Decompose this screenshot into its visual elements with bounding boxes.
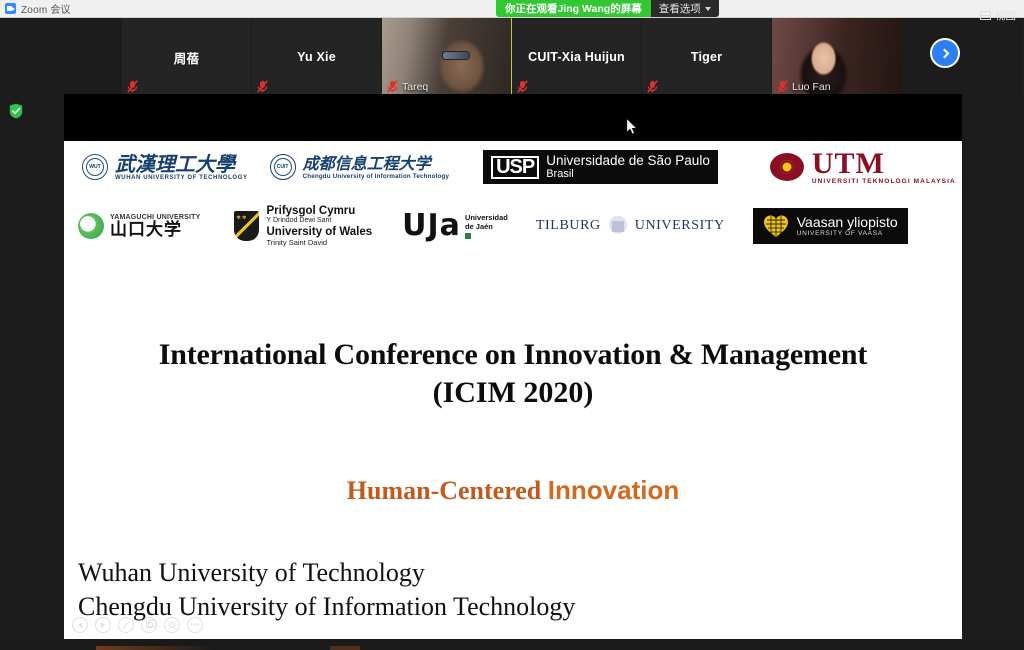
share-banner-message: 你正在观看Jing Wang的屏幕 xyxy=(496,0,651,17)
microphone-muted-icon xyxy=(387,80,398,93)
previous-slide-icon xyxy=(78,622,82,628)
participant-tile-zhou-bei[interactable]: 周蓓 xyxy=(122,18,252,96)
logo-university-of-vaasa: Vaasan yliopisto UNIVERSITY OF VAASA xyxy=(753,208,908,244)
magnifier-zoom-icon xyxy=(169,622,175,628)
view-button-label: 视图 xyxy=(995,8,1016,23)
security-shield-check-icon[interactable] xyxy=(9,103,23,119)
logo-chengdu-university-of-information-technology: CUIT 成都信息工程大学 Chengdu University of Info… xyxy=(270,154,450,180)
microphone-muted-icon xyxy=(647,80,658,93)
tilburg-crest-icon xyxy=(607,214,629,238)
filmstrip-left-padding xyxy=(0,18,122,96)
logo-line-4: Trinity Saint David xyxy=(266,238,372,247)
shared-screen-content: WUT 武漢理工大學 WUHAN UNIVERSITY OF TECHNOLOG… xyxy=(64,94,962,639)
view-options-button[interactable]: 查看选项 xyxy=(651,0,719,17)
slide-title: International Conference on Innovation &… xyxy=(64,336,962,412)
participant-filmstrip: 周蓓 Yu Xie xyxy=(0,18,1024,96)
slide-subtitle-part-2: Innovation xyxy=(548,475,679,505)
yamaguchi-mark-icon xyxy=(78,213,104,239)
logo-word-right: UNIVERSITY xyxy=(635,218,725,234)
logo-universiti-teknologi-malaysia: UTM UNIVERSITI TEKNOLOGI MALAYSIA xyxy=(770,150,956,185)
slide-subtitle: Human-Centered Innovation xyxy=(64,475,962,506)
participant-tile-cuit-xia-huijun[interactable]: CUIT-Xia Huijun xyxy=(512,18,642,96)
chevron-right-icon xyxy=(939,48,949,58)
vaasa-heart-icon xyxy=(763,214,789,238)
logo-university-of-wales-trinity-saint-david: Prifysgol Cymru Y Drindod Dewi Sant Univ… xyxy=(234,205,372,247)
chevron-down-icon xyxy=(705,7,711,11)
left-rail xyxy=(0,96,64,639)
participant-tile-luo-fan[interactable]: Luo Fan xyxy=(772,18,902,96)
participant-name: CUIT-Xia Huijun xyxy=(512,18,641,96)
more-options-button[interactable]: ••• xyxy=(187,617,203,633)
pen-annotation-button[interactable] xyxy=(118,617,134,633)
logo-sub-2: de Jaén xyxy=(465,223,508,232)
logo-line-3: University of Wales xyxy=(266,226,372,239)
participant-tile-yu-xie[interactable]: Yu Xie xyxy=(252,18,382,96)
zoom-meeting-window: Zoom 会议 周蓓 Yu Xie xyxy=(0,0,1024,650)
uja-mark-icon: UJa xyxy=(402,211,461,241)
participant-name: Yu Xie xyxy=(252,18,381,96)
microphone-muted-icon xyxy=(517,80,528,93)
logo-wuhan-university-of-technology: WUT 武漢理工大學 WUHAN UNIVERSITY OF TECHNOLOG… xyxy=(82,154,248,181)
bottom-strip-highlight xyxy=(96,646,216,650)
participant-tile-tiger[interactable]: Tiger xyxy=(642,18,772,96)
logo-name-cn: 山口大学 xyxy=(110,221,200,239)
logo-subtitle: UNIVERSITI TEKNOLOGI MALAYSIA xyxy=(812,178,956,185)
usp-mark-icon: USP xyxy=(491,156,539,179)
uja-accent-square xyxy=(465,233,471,239)
logo-tilburg-university: TILBURG UNIVERSITY xyxy=(536,214,725,238)
filmstrip-next-page-button[interactable] xyxy=(930,38,960,68)
all-slides-icon xyxy=(146,622,153,628)
logo-letters: UTM xyxy=(812,150,956,178)
next-slide-button[interactable] xyxy=(95,617,111,633)
pen-annotation-icon xyxy=(122,621,129,628)
logo-line-1: Prifysgol Cymru xyxy=(266,205,372,217)
view-options-label: 查看选项 xyxy=(659,1,701,16)
organizer-line-2: Chengdu University of Information Techno… xyxy=(78,590,948,624)
logo-word-left: TILBURG xyxy=(536,218,601,234)
participant-tile-tareq[interactable]: Tareq xyxy=(382,18,512,96)
filmstrip-right-area xyxy=(902,18,1022,96)
logo-line-1: Universidade de São Paulo xyxy=(546,154,710,168)
zoom-logo-icon xyxy=(5,3,16,14)
next-slide-icon xyxy=(101,622,105,628)
window-title: Zoom 会议 xyxy=(21,1,71,16)
microphone-muted-icon xyxy=(127,80,138,93)
screen-share-banner: 你正在观看Jing Wang的屏幕 查看选项 xyxy=(496,0,719,17)
participant-name: Luo Fan xyxy=(792,81,831,93)
utm-crest-icon xyxy=(770,153,804,181)
logo-line-2: UNIVERSITY OF VAASA xyxy=(797,230,898,238)
logo-name-en: Chengdu University of Information Techno… xyxy=(303,173,450,180)
sponsor-logo-row-2: YAMAGUCHI UNIVERSITY 山口大学 Prifysgol Cymr… xyxy=(64,201,962,251)
presenter-toolbar: ••• xyxy=(72,617,203,633)
slide-subtitle-part-1: Human-Centered xyxy=(347,476,548,505)
participant-name: Tareq xyxy=(402,81,428,93)
shared-screen-letterbox xyxy=(64,94,962,141)
presentation-slide: WUT 武漢理工大學 WUHAN UNIVERSITY OF TECHNOLOG… xyxy=(64,141,962,639)
zoom-slide-button[interactable] xyxy=(164,617,180,633)
bottom-strip-highlight-2 xyxy=(330,646,360,650)
logo-line-1: Vaasan yliopisto xyxy=(797,215,898,230)
logo-name-cn: 武漢理工大學 xyxy=(115,154,248,175)
logo-universidad-de-jaen: UJa Universidad de Jaén xyxy=(402,211,508,241)
logo-name-cn: 成都信息工程大学 xyxy=(303,155,450,173)
more-options-icon: ••• xyxy=(190,622,200,628)
previous-slide-button[interactable] xyxy=(72,617,88,633)
slide-organizers: Wuhan University of Technology Chengdu U… xyxy=(78,556,948,624)
cuit-seal-text: CUIT xyxy=(271,155,295,179)
right-rail xyxy=(962,18,1024,639)
logo-name-en: WUHAN UNIVERSITY OF TECHNOLOGY xyxy=(115,175,248,181)
wut-seal-text: WUT xyxy=(83,155,107,179)
logo-yamaguchi-university: YAMAGUCHI UNIVERSITY 山口大学 xyxy=(78,213,200,239)
logo-line-2: Brasil xyxy=(546,168,710,180)
bottom-strip xyxy=(0,639,1024,650)
grid-view-icon xyxy=(980,11,991,20)
slide-title-line-1: International Conference on Innovation &… xyxy=(64,336,962,374)
slide-title-line-2: (ICIM 2020) xyxy=(64,374,962,412)
sponsor-logo-row-1: WUT 武漢理工大學 WUHAN UNIVERSITY OF TECHNOLOG… xyxy=(64,141,962,193)
cuit-seal-icon: CUIT xyxy=(270,154,296,180)
microphone-muted-icon xyxy=(257,80,268,93)
participant-name: Tiger xyxy=(642,18,771,96)
microphone-muted-icon xyxy=(777,80,788,93)
all-slides-button[interactable] xyxy=(141,617,157,633)
wales-shield-icon xyxy=(234,211,259,241)
view-button[interactable]: 视图 xyxy=(980,8,1016,23)
logo-universidade-de-sao-paulo: USP Universidade de São Paulo Brasil xyxy=(483,150,718,184)
logo-line-2: Y Drindod Dewi Sant xyxy=(266,217,372,226)
wut-seal-icon: WUT xyxy=(82,154,108,180)
organizer-line-1: Wuhan University of Technology xyxy=(78,556,948,590)
participant-name: 周蓓 xyxy=(122,18,251,96)
